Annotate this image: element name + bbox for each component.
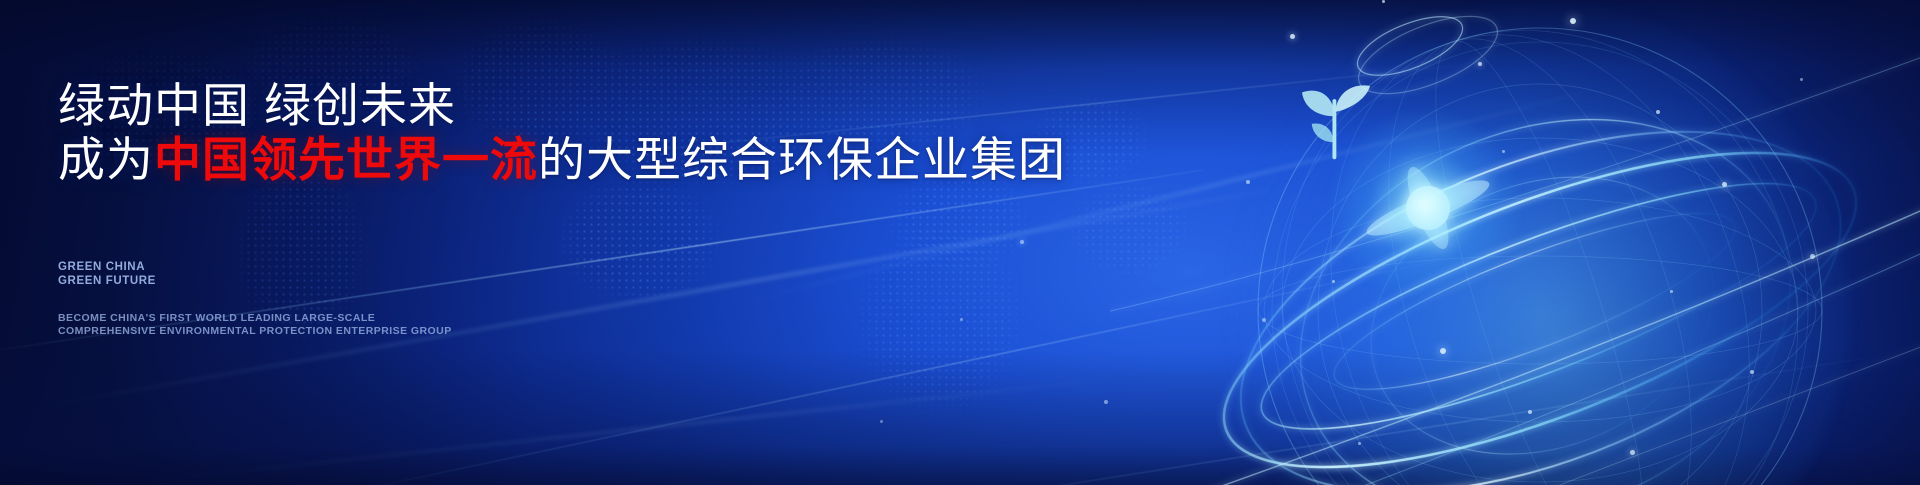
headline-line-2: 成为中国领先世界一流的大型综合环保企业集团 [58,136,1066,183]
tagline-line-2: GREEN FUTURE [58,275,156,289]
tagline-line-1: GREEN CHINA [58,261,156,275]
hero-banner: 绿动中国 绿创未来 成为中国领先世界一流的大型综合环保企业集团 GREEN CH… [0,0,1920,485]
globe-graphic [1110,0,1920,485]
subtitle-line-2: COMPREHENSIVE ENVIRONMENTAL PROTECTION E… [58,325,452,338]
headline-highlight: 中国领先世界一流 [154,133,538,186]
tagline-english: GREEN CHINA GREEN FUTURE [58,261,156,288]
headline-suffix: 的大型综合环保企业集团 [538,133,1066,186]
headline-prefix: 成为 [58,133,154,186]
particle [1104,400,1108,404]
globe-core-light [1320,100,1530,310]
subtitle-line-1: BECOME CHINA'S FIRST WORLD LEADING LARGE… [58,312,452,325]
banner-copy: 绿动中国 绿创未来 成为中国领先世界一流的大型综合环保企业集团 GREEN CH… [58,0,1058,485]
subtitle-english: BECOME CHINA'S FIRST WORLD LEADING LARGE… [58,312,452,337]
headline-line-1: 绿动中国 绿创未来 [58,82,456,129]
